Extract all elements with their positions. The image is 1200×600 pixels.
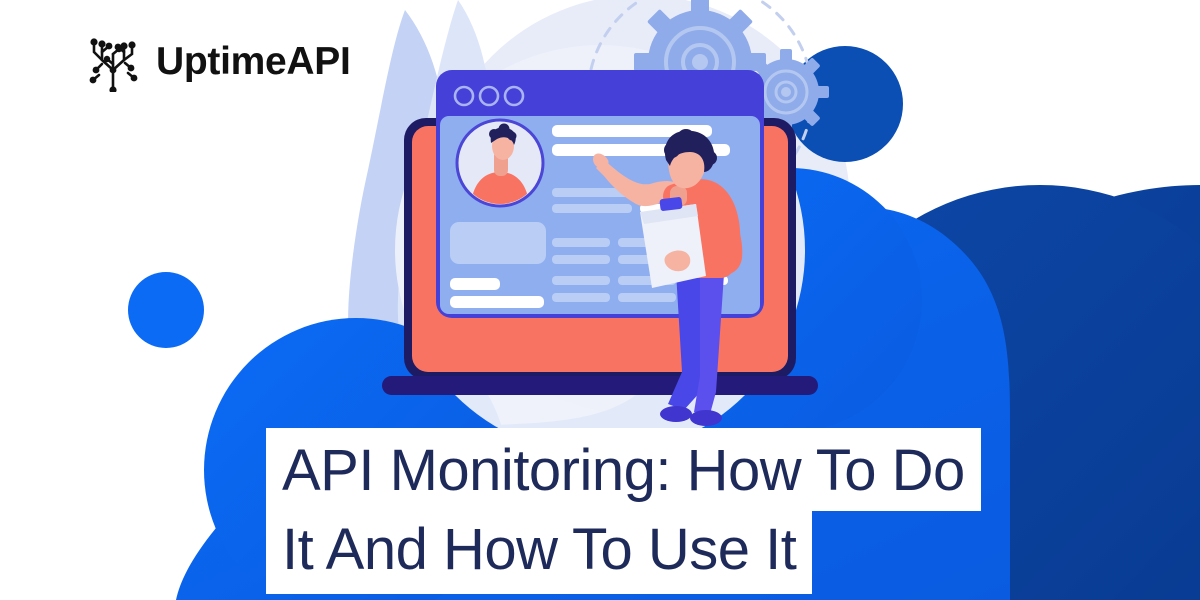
page-title-line-1: API Monitoring: How To Do [266,428,981,511]
circuit-tree-icon [84,30,142,92]
brand-name: UptimeAPI [156,42,351,81]
person-shoe-back [660,406,692,422]
brand-logo[interactable]: UptimeAPI [84,30,351,92]
laptop-base [382,376,818,395]
page-title: API Monitoring: How To Do It And How To … [266,428,981,594]
person-shoe-front [690,410,722,426]
banner: UptimeAPI API Monitoring: How To Do It A… [0,0,1200,600]
page-title-line-2: It And How To Use It [266,511,812,594]
